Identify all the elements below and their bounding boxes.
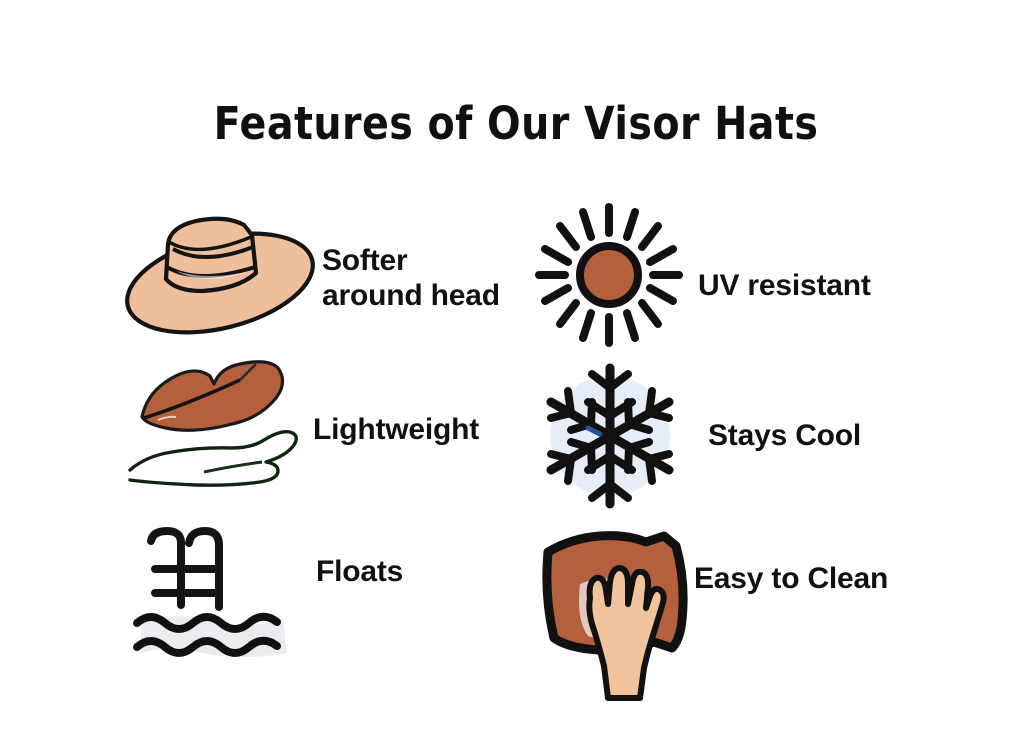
hand-wiping-cloth-icon (536, 524, 701, 700)
visor-hats-features-infographic: Features of Our Visor Hats Softer around… (0, 0, 1032, 729)
snowflake-icon (536, 358, 686, 513)
feature-label-stays-cool: Stays Cool (708, 418, 861, 453)
sun-hat-icon (118, 211, 323, 336)
feature-label-floats: Floats (316, 554, 403, 589)
leaf-on-hand-icon (128, 352, 318, 487)
feature-label-lightweight: Lightweight (313, 412, 479, 447)
feature-label-easy-to-clean: Easy to Clean (694, 561, 888, 596)
page-title: Features of Our Visor Hats (62, 97, 970, 150)
sun-icon (532, 201, 687, 349)
pool-ladder-water-icon (133, 527, 308, 662)
feature-label-uv-resistant: UV resistant (698, 268, 871, 303)
feature-label-softer-around-head: Softer around head (322, 243, 500, 313)
